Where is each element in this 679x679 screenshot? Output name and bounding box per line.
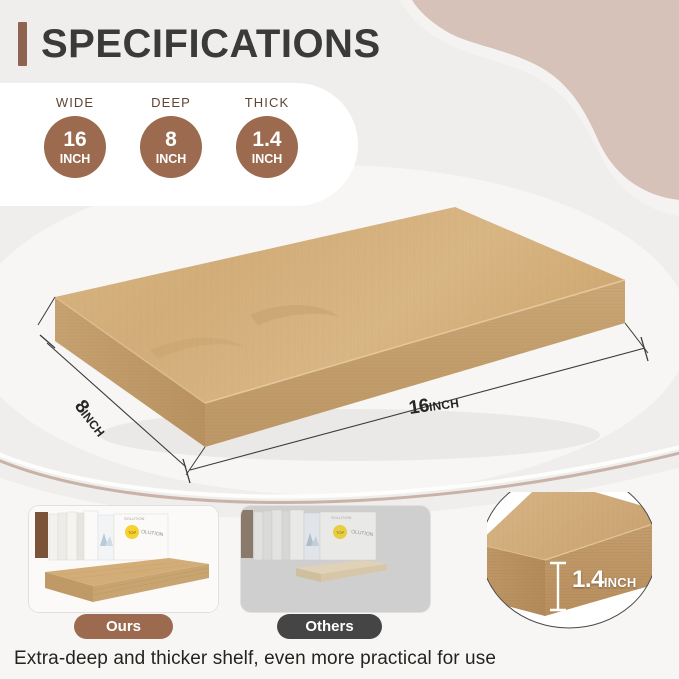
footer-caption: Extra-deep and thicker shelf, even more … [14,648,496,670]
others-door-frame [241,510,253,558]
spec-item-deep: DEEP 8 INCH [140,83,202,206]
thickness-label: 1.4INCH [572,566,636,594]
comparison-panel-ours: TOP OLUTION SOLUTION [28,505,219,613]
spec-badge-wide: 16 INCH [44,116,106,178]
others-books: TOP OLUTION SOLUTION [254,510,376,560]
spec-list: WIDE 16 INCH DEEP 8 INCH THICK 1.4 INCH [0,83,358,206]
ours-door-frame [35,512,48,558]
thickness-detail-closeup [487,492,652,630]
others-shelf-photo: TOP OLUTION SOLUTION [241,506,431,613]
spec-value-thick: 1.4 [252,129,281,150]
spec-label-wide: WIDE [56,95,94,110]
spec-badge-deep: 8 INCH [140,116,202,178]
dimension-width-value: 16 [407,395,430,419]
ours-books: TOP OLUTION SOLUTION [49,511,168,560]
spec-value-wide: 16 [63,129,86,150]
svg-text:SOLUTION: SOLUTION [331,515,352,520]
spec-value-deep: 8 [165,129,177,150]
page-title: SPECIFICATIONS [41,24,381,64]
spec-unit-thick: INCH [252,153,283,166]
spec-unit-deep: INCH [156,153,187,166]
dim-ext-depth-top [38,297,55,325]
spec-label-thick: THICK [245,95,290,110]
comparison-panel-others: TOP OLUTION SOLUTION [240,505,431,613]
accent-bar [18,22,27,66]
spec-unit-wide: INCH [60,153,91,166]
comparison-pill-ours[interactable]: Ours [74,614,173,639]
svg-text:SOLUTION: SOLUTION [124,516,145,521]
svg-text:TOP: TOP [128,530,136,535]
spec-item-wide: WIDE 16 INCH [44,83,106,206]
thickness-unit: INCH [604,575,637,590]
spec-item-thick: THICK 1.4 INCH [236,83,298,206]
comparison-pill-others[interactable]: Others [277,614,382,639]
ours-shelf-photo: TOP OLUTION SOLUTION [29,506,219,613]
svg-text:TOP: TOP [336,530,344,535]
thickness-value: 1.4 [572,566,604,593]
page-header: SPECIFICATIONS [18,22,381,66]
specifications-card: WIDE 16 INCH DEEP 8 INCH THICK 1.4 INCH [0,83,358,206]
spec-label-deep: DEEP [151,95,191,110]
spec-badge-thick: 1.4 INCH [236,116,298,178]
dimension-width-unit: INCH [428,396,460,414]
dim-tick-depth-top [40,335,55,348]
hero-product-image [0,185,679,490]
